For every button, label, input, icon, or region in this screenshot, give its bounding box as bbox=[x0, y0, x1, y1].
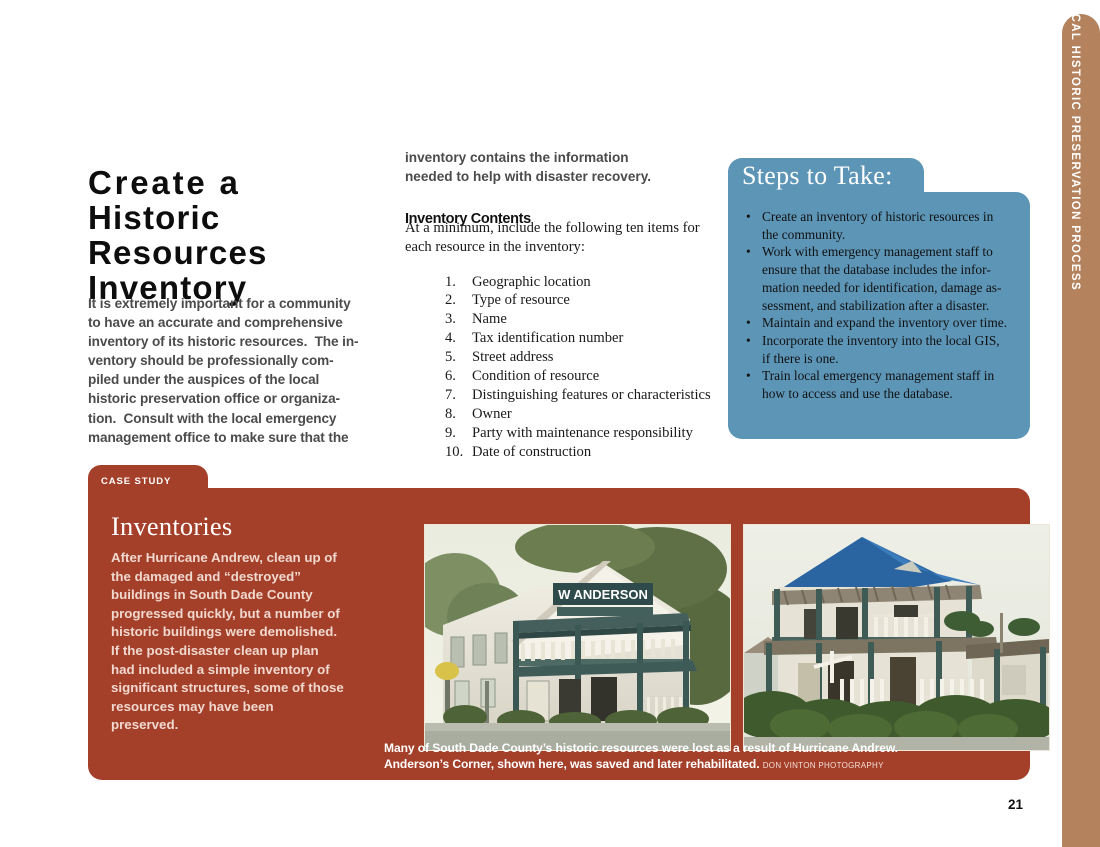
steps-to-take-item: •Work with emergency management staff to… bbox=[742, 243, 1026, 314]
inventory-list-item-number: 7. bbox=[445, 386, 467, 405]
inventory-list-item-number: 4. bbox=[445, 329, 467, 348]
case-study-title: Inventories bbox=[111, 511, 232, 542]
case-study-body-line: the damaged and “destroyed” bbox=[111, 568, 401, 587]
inventory-list-item-number: 10. bbox=[445, 443, 467, 462]
intro-line: management office to make sure that the bbox=[88, 428, 388, 447]
inventory-list-item: 2.Type of resource bbox=[445, 291, 745, 310]
case-study-body-line: significant structures, some of those bbox=[111, 679, 401, 698]
photo-caption-text: Anderson’s Corner, shown here, was saved… bbox=[384, 757, 759, 771]
inventory-list-item: 5.Street address bbox=[445, 348, 745, 367]
steps-to-take-item: •Incorporate the inventory into the loca… bbox=[742, 332, 1026, 367]
inventory-list-item-number: 2. bbox=[445, 291, 467, 310]
steps-to-take-item-line: Work with emergency management staff to bbox=[762, 243, 1026, 261]
steps-to-take-item: •Create an inventory of historic resourc… bbox=[742, 208, 1026, 243]
page-number: 21 bbox=[1008, 797, 1023, 812]
intro-line: piled under the auspices of the local bbox=[88, 370, 388, 389]
steps-to-take-title: Steps to Take: bbox=[742, 161, 893, 191]
photo-credit: DON VINTON PHOTOGRAPHY bbox=[763, 761, 884, 770]
case-study-body-line: resources may have been bbox=[111, 698, 401, 717]
inventory-list-item-label: Street address bbox=[472, 349, 553, 365]
inventory-list-item-number: 8. bbox=[445, 405, 467, 424]
inventory-list-item-number: 6. bbox=[445, 367, 467, 386]
case-study-panel: Inventories After Hurricane Andrew, clea… bbox=[88, 488, 1030, 780]
case-study-body: After Hurricane Andrew, clean up ofthe d… bbox=[111, 549, 401, 735]
inventory-list-item: 3.Name bbox=[445, 310, 745, 329]
intro-continuation: inventory contains the information neede… bbox=[405, 148, 705, 186]
inventory-list-item-number: 3. bbox=[445, 310, 467, 329]
inventory-list-item: 6.Condition of resource bbox=[445, 367, 745, 386]
steps-to-take-item-line: if there is one. bbox=[762, 350, 1026, 368]
inventory-list-item: 10.Date of construction bbox=[445, 443, 745, 462]
inventory-list-item: 4.Tax identification number bbox=[445, 329, 745, 348]
photo-anderson-corner-intact: W ANDERSON bbox=[424, 524, 731, 751]
page-title-line-3: Resources bbox=[88, 235, 398, 270]
steps-to-take-item: •Maintain and expand the inventory over … bbox=[742, 314, 1026, 332]
case-study-body-line: had included a simple inventory of bbox=[111, 661, 401, 680]
inventory-list-item-number: 9. bbox=[445, 424, 467, 443]
steps-to-take-item-line: sessment, and stabilization after a disa… bbox=[762, 297, 1026, 315]
inventory-list-item-number: 5. bbox=[445, 348, 467, 367]
case-study-body-line: preserved. bbox=[111, 716, 401, 735]
page-title-line-1: Create a bbox=[88, 165, 398, 200]
inventory-list-item-label: Owner bbox=[472, 406, 512, 422]
photo-caption-line: Anderson’s Corner, shown here, was saved… bbox=[384, 757, 1004, 774]
steps-to-take-item-line: the community. bbox=[762, 226, 1026, 244]
photo-anderson-corner-damaged bbox=[743, 524, 1050, 751]
steps-to-take-list: •Create an inventory of historic resourc… bbox=[742, 208, 1026, 403]
inventory-list-item-label: Type of resource bbox=[472, 292, 570, 308]
intro-line: to have an accurate and comprehensive bbox=[88, 313, 388, 332]
document-page: ENHANCING THE LOCAL HISTORIC PRESERVATIO… bbox=[0, 0, 1100, 847]
intro-paragraph: It is extremely important for a communit… bbox=[88, 294, 388, 447]
lead-line: At a minimum, include the following ten … bbox=[405, 219, 695, 238]
inventory-list-item-label: Tax identification number bbox=[472, 330, 623, 346]
inventory-list-item-label: Name bbox=[472, 311, 507, 327]
bullet-icon: • bbox=[746, 314, 751, 332]
intro-line: needed to help with disaster recovery. bbox=[405, 167, 705, 186]
section-tab-label: ENHANCING THE LOCAL HISTORIC PRESERVATIO… bbox=[1069, 0, 1081, 291]
steps-to-take-callout: Steps to Take: •Create an inventory of h… bbox=[728, 158, 1030, 439]
intro-line: historic preservation office or organiza… bbox=[88, 389, 388, 408]
case-study-body-line: If the post-disaster clean up plan bbox=[111, 642, 401, 661]
steps-to-take-item-line: how to access and use the database. bbox=[762, 385, 1026, 403]
inventory-list-item-label: Date of construction bbox=[472, 444, 591, 460]
inventory-list-item: 9.Party with maintenance responsibility bbox=[445, 424, 745, 443]
steps-to-take-item-line: Train local emergency management staff i… bbox=[762, 367, 1026, 385]
inventory-list-item-label: Condition of resource bbox=[472, 368, 599, 384]
bullet-icon: • bbox=[746, 367, 751, 385]
case-study-body-line: After Hurricane Andrew, clean up of bbox=[111, 549, 401, 568]
inventory-list-item: 7.Distinguishing features or characteris… bbox=[445, 386, 745, 405]
steps-to-take-item-line: mation needed for identification, damage… bbox=[762, 279, 1026, 297]
svg-text:W ANDERSON: W ANDERSON bbox=[558, 587, 648, 602]
photo-caption-line: Many of South Dade County’s historic res… bbox=[384, 741, 1004, 757]
steps-to-take-item-line: Maintain and expand the inventory over t… bbox=[762, 314, 1026, 332]
case-study-tab-label: CASE STUDY bbox=[101, 476, 171, 487]
inventory-contents-list: 1.Geographic location2.Type of resource3… bbox=[405, 273, 745, 462]
section-tab: ENHANCING THE LOCAL HISTORIC PRESERVATIO… bbox=[1062, 14, 1100, 847]
steps-to-take-item: •Train local emergency management staff … bbox=[742, 367, 1026, 402]
steps-to-take-item-line: Create an inventory of historic resource… bbox=[762, 208, 1026, 226]
page-title: Create a Historic Resources Inventory bbox=[88, 165, 398, 305]
steps-to-take-item-line: Incorporate the inventory into the local… bbox=[762, 332, 1026, 350]
inventory-list-item-label: Party with maintenance responsibility bbox=[472, 425, 693, 441]
inventory-list-item: 1.Geographic location bbox=[445, 273, 745, 292]
intro-line: tion. Consult with the local emergency bbox=[88, 409, 388, 428]
case-study-body-line: historic buildings were demolished. bbox=[111, 623, 401, 642]
intro-line: ventory should be professionally com- bbox=[88, 351, 388, 370]
case-study-body-line: buildings in South Dade County bbox=[111, 586, 401, 605]
bullet-icon: • bbox=[746, 243, 751, 261]
page-title-line-2: Historic bbox=[88, 200, 398, 235]
inventory-list-item-number: 1. bbox=[445, 273, 467, 292]
bullet-icon: • bbox=[746, 208, 751, 226]
inventory-contents-lead: At a minimum, include the following ten … bbox=[405, 219, 695, 257]
photo-caption: Many of South Dade County’s historic res… bbox=[384, 741, 1004, 773]
case-study-body-line: progressed quickly, but a number of bbox=[111, 605, 401, 624]
steps-to-take-item-line: ensure that the database includes the in… bbox=[762, 261, 1026, 279]
bullet-icon: • bbox=[746, 332, 751, 350]
inventory-list-item-label: Geographic location bbox=[472, 274, 591, 290]
lead-line: each resource in the inventory: bbox=[405, 238, 695, 257]
intro-line: It is extremely important for a communit… bbox=[88, 294, 388, 313]
inventory-list-item-label: Distinguishing features or characteristi… bbox=[472, 387, 711, 403]
inventory-list-item: 8.Owner bbox=[445, 405, 745, 424]
intro-line: inventory contains the information bbox=[405, 148, 705, 167]
intro-line: inventory of its historic resources. The… bbox=[88, 332, 388, 351]
